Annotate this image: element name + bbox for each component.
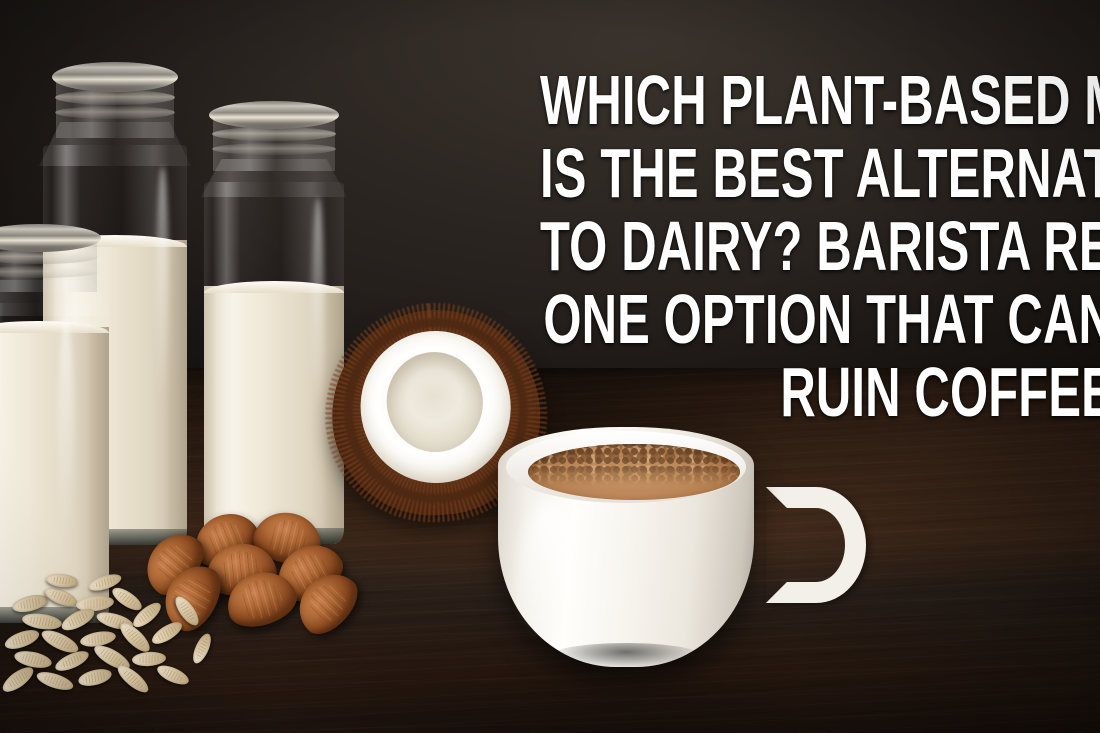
bottle-thread <box>55 90 175 105</box>
bottle-front-left <box>0 222 114 623</box>
cup-shadow <box>550 643 702 669</box>
milk-surface <box>0 321 109 333</box>
coconut-cavity <box>379 344 491 459</box>
cup-handle <box>766 487 866 603</box>
bottle-right-back <box>200 97 348 544</box>
hero-image: WHICH PLANT-BASED MILK IS THE BEST ALTER… <box>0 0 1100 733</box>
cup-rim <box>506 431 746 503</box>
bottle-thread <box>55 106 175 119</box>
espresso-cup <box>498 427 798 689</box>
cup-highlight <box>522 501 576 641</box>
crema-bubbles <box>528 444 740 500</box>
bottle-thread <box>212 143 336 155</box>
bottle-highlight <box>312 197 324 417</box>
bottle-thread <box>212 127 336 141</box>
bottle-highlight <box>156 166 169 416</box>
bottle-rim <box>209 101 339 129</box>
bottle-highlight <box>58 318 74 548</box>
bottle-rim <box>52 62 178 92</box>
coffee-crema <box>528 444 740 500</box>
cup-body <box>498 427 754 667</box>
